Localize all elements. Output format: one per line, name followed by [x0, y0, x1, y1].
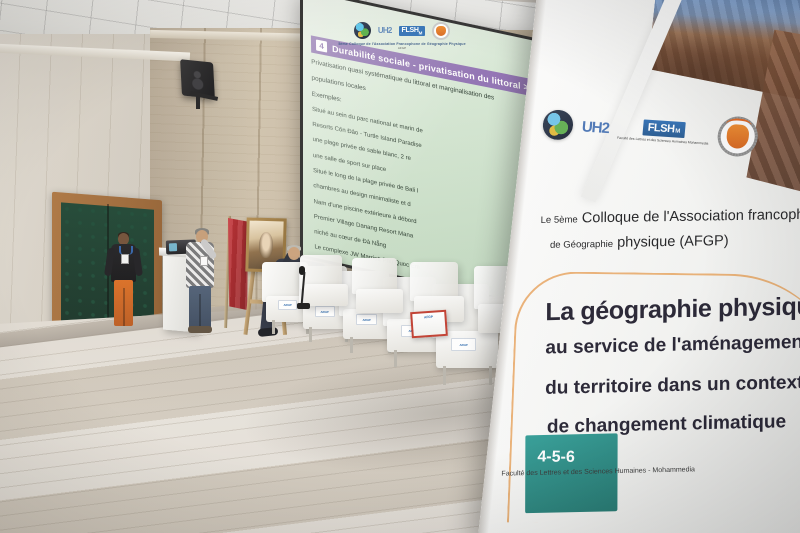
- shoes: [188, 326, 212, 333]
- watermark-logo-row: UH2 FLSHM: [354, 22, 450, 40]
- badge: [121, 254, 129, 264]
- banner-date-text: 4-5-6: [537, 448, 575, 466]
- flsh-logo: FLSHM: [642, 119, 686, 138]
- slide-header-number: 4: [316, 39, 327, 52]
- orange-gear-emblem: [716, 115, 760, 157]
- watermark-caption: 5ème Colloque de l'Association Francopho…: [338, 42, 465, 46]
- emblem-arc: [726, 118, 753, 133]
- chair-label: AFGP: [315, 306, 335, 317]
- banner-line-1: Le 5ème Colloque de l'Association franco…: [541, 207, 800, 227]
- emblem-core: [436, 26, 446, 36]
- uh2-logo: UH2: [581, 118, 610, 137]
- speaker-bracket-post: [196, 93, 200, 109]
- flsh-icon: FLSHM: [399, 26, 426, 36]
- head: [288, 247, 300, 260]
- chair-label: AFGP: [356, 314, 377, 325]
- microphone-base: [297, 303, 310, 309]
- name-card-tent: AFGP: [410, 310, 448, 338]
- banner-title: La géographie physique: [545, 292, 800, 327]
- orange-emblem-icon: [432, 22, 450, 40]
- watermark-header: UH2 FLSHM 5ème Colloque de l'Association…: [336, 18, 468, 54]
- photo-canvas: 4 Durabilité sociale - privatisation du …: [0, 0, 800, 533]
- globe-logo: [542, 109, 575, 141]
- watermark-subcaption: AFGP: [398, 46, 406, 50]
- globe-icon: [354, 22, 371, 39]
- leg-split: [199, 294, 201, 330]
- banner-line-2: de Géographie physique (AFGP): [550, 233, 729, 252]
- chair-label: AFGP: [451, 338, 476, 351]
- uh2-icon: UH2: [378, 26, 392, 35]
- leg-split: [123, 288, 125, 326]
- banner-logo-row: UH2 FLSHM Faculté des Lettres et des Sci…: [541, 97, 776, 166]
- flsh-caption: Faculté des Lettres et des Sciences Huma…: [617, 136, 709, 146]
- chair-label: AFGP: [278, 300, 297, 310]
- badge: [200, 256, 208, 266]
